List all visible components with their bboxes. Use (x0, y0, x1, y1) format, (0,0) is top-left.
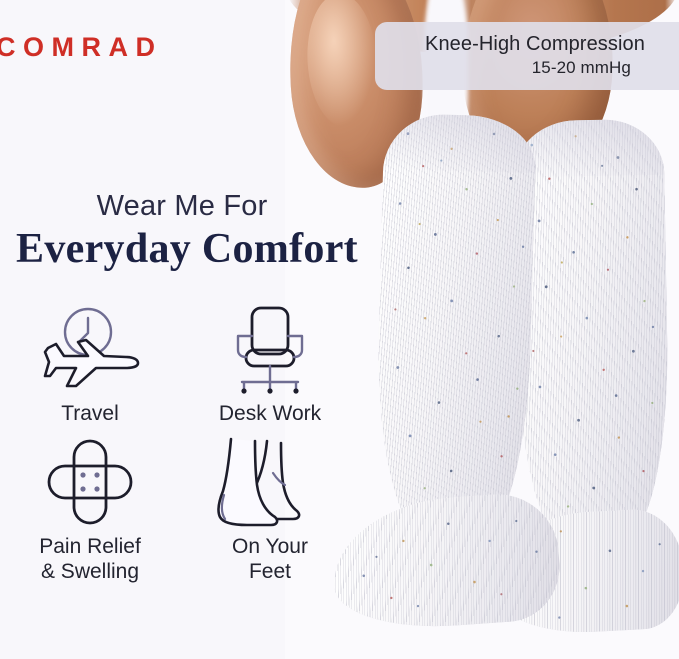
feature-label-line1: Desk Work (219, 402, 321, 425)
brand-logo: COMRAD (0, 32, 163, 63)
sock-speckles (374, 113, 537, 537)
sock-cuff-shade (383, 113, 536, 173)
feature-on-your-feet: On Your Feet (180, 433, 360, 585)
feature-label-desk-work: Desk Work (219, 402, 321, 427)
feature-label-on-your-feet: On Your Feet (232, 535, 308, 585)
floor-fade (285, 619, 679, 659)
compression-sock-left-foot: COMRAD (329, 490, 563, 633)
badge-title: Knee-High Compression (393, 32, 677, 57)
feature-travel: Travel (0, 300, 180, 427)
feature-pain-relief: Pain Relief & Swelling (0, 433, 180, 585)
compression-sock-left (374, 113, 537, 537)
headline-main: Everyday Comfort (0, 225, 374, 273)
feet-profile-icon (215, 433, 325, 533)
office-chair-icon (218, 300, 322, 400)
headline-sub: Wear Me For (0, 190, 364, 223)
compression-level-badge: Knee-High Compression 15-20 mmHg (375, 22, 679, 90)
feature-label-line1: Travel (61, 402, 119, 425)
feature-desk-work: Desk Work (180, 300, 360, 427)
feature-grid: Travel Desk Work (0, 300, 360, 584)
feature-label-line2: Feet (232, 560, 308, 585)
feature-label-line1: Pain Relief (39, 535, 141, 558)
sock-speckles (513, 119, 670, 542)
airplane-clock-icon (34, 300, 146, 400)
feature-label-line2: & Swelling (39, 560, 141, 585)
feature-label-pain-relief: Pain Relief & Swelling (39, 535, 141, 585)
bandage-cross-icon (40, 433, 140, 533)
sock-speckles (329, 490, 563, 633)
badge-subtitle: 15-20 mmHg (393, 57, 677, 79)
product-marketing-image: COMRAD Knee-High Compression 15-20 mmHg … (0, 0, 679, 659)
compression-sock-right (513, 119, 670, 542)
feature-label-travel: Travel (61, 402, 119, 427)
feature-label-line1: On Your (232, 535, 308, 558)
